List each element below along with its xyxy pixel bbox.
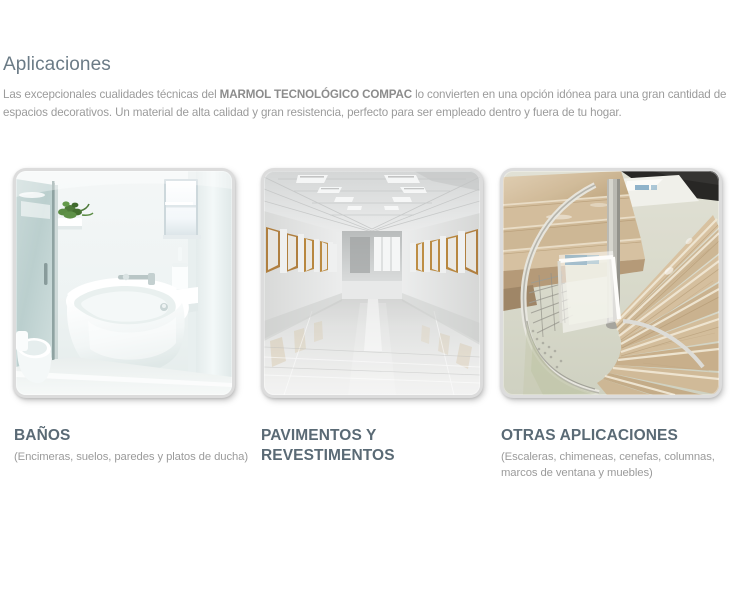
caption-otras: OTRAS APLICACIONES (Escaleras, chimeneas… (501, 426, 730, 481)
caption-subtitle-otras: (Escaleras, chimeneas, cenefas, columnas… (501, 449, 730, 481)
applications-page: Aplicaciones Las excepcionales cualidade… (0, 0, 730, 600)
caption-title-otras: OTRAS APLICACIONES (501, 426, 730, 446)
caption-banos: BAÑOS (Encimeras, suelos, paredes y plat… (14, 426, 250, 465)
page-header: Aplicaciones Las excepcionales cualidade… (3, 53, 727, 121)
photo-frame-pavimentos[interactable] (261, 168, 483, 398)
spiral-staircase-photo (503, 171, 719, 395)
application-card-pavimentos[interactable] (261, 168, 489, 398)
brand-name: MARMOL TECNOLÓGICO COMPAC (220, 88, 412, 101)
intro-text-before: Las excepcionales cualidades técnicas de… (3, 88, 220, 101)
photo-frame-otras[interactable] (500, 168, 722, 398)
application-card-banos[interactable] (13, 168, 241, 398)
intro-paragraph: Las excepcionales cualidades técnicas de… (3, 86, 729, 121)
caption-pavimentos: PAVIMENTOS Y REVESTIMENTOS (261, 426, 491, 469)
bathroom-photo (16, 171, 232, 395)
page-title: Aplicaciones (3, 53, 727, 77)
caption-title-pavimentos: PAVIMENTOS Y REVESTIMENTOS (261, 426, 491, 466)
caption-title-banos: BAÑOS (14, 426, 250, 446)
flooring-hall-photo (264, 171, 480, 395)
applications-card-row: BAÑOS (Encimeras, suelos, paredes y plat… (0, 168, 730, 568)
photo-frame-banos[interactable] (13, 168, 235, 398)
application-card-otras[interactable] (500, 168, 728, 398)
caption-subtitle-banos: (Encimeras, suelos, paredes y platos de … (14, 449, 250, 465)
